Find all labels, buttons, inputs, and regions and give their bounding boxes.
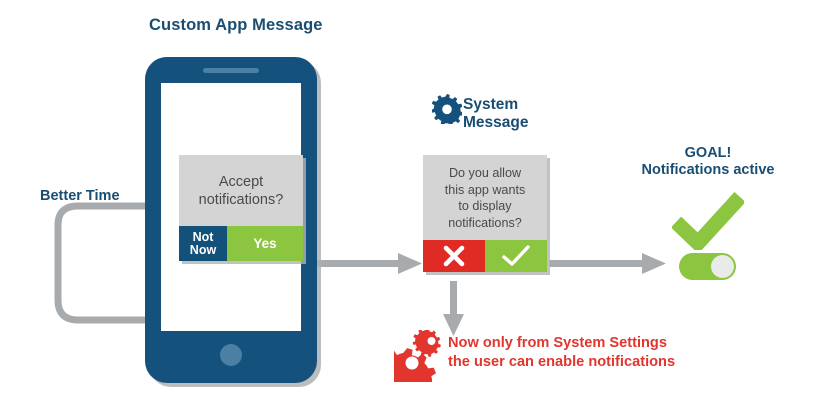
check-icon xyxy=(501,244,531,268)
system-permission-dialog: Do you allow this app wants to display n… xyxy=(423,155,547,272)
system-dialog-buttons xyxy=(423,240,547,272)
app-to-system-arrow xyxy=(305,253,422,274)
home-button-icon[interactable] xyxy=(220,344,242,366)
footer-note: Now only from System Settings the user c… xyxy=(448,334,675,373)
allow-button[interactable] xyxy=(485,240,547,272)
diagram-canvas: Custom App Message Better Time System Me… xyxy=(0,0,820,403)
speaker-slit-icon xyxy=(203,68,259,73)
goal-title: GOAL! Notifications active xyxy=(605,145,811,179)
cross-icon xyxy=(441,243,467,269)
check-icon xyxy=(672,192,744,250)
deny-button[interactable] xyxy=(423,240,485,272)
app-dialog-message: Accept notifications? xyxy=(179,155,303,226)
gears-icon xyxy=(394,330,452,382)
better-time-label: Better Time xyxy=(40,188,120,205)
custom-app-message-title: Custom App Message xyxy=(149,16,323,35)
toggle-knob xyxy=(711,255,734,278)
app-dialog-buttons: Not Now Yes xyxy=(179,226,303,261)
deny-to-note-arrow xyxy=(443,281,464,336)
system-dialog-message: Do you allow this app wants to display n… xyxy=(423,155,547,240)
system-message-title: System Message xyxy=(463,96,528,133)
yes-button[interactable]: Yes xyxy=(227,226,303,261)
system-to-goal-arrow xyxy=(549,253,666,274)
not-now-button[interactable]: Not Now xyxy=(179,226,227,261)
gear-icon xyxy=(432,94,462,124)
app-permission-dialog: Accept notifications? Not Now Yes xyxy=(179,155,303,261)
notifications-toggle[interactable] xyxy=(679,253,736,280)
